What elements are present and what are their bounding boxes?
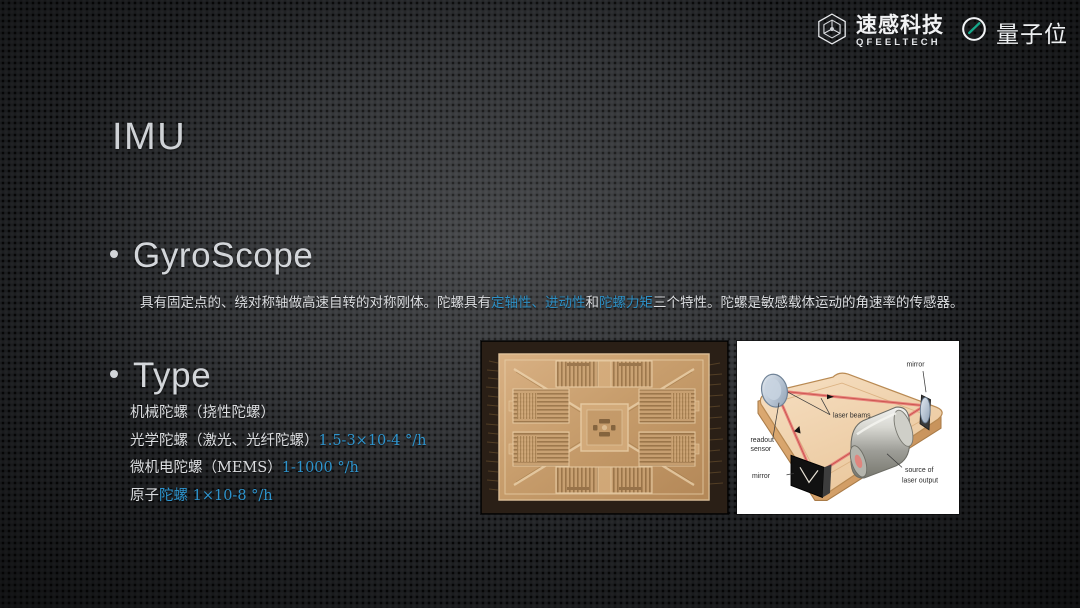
heading-type-label: Type (133, 356, 211, 396)
label-mirror-bottom: mirror (752, 473, 771, 480)
logo-qbitai: 量子位 (958, 13, 1068, 50)
type-label: 光学陀螺（激光、光纤陀螺） (130, 433, 319, 449)
label-source-line2: laser output (902, 477, 938, 484)
type-label: 微机电陀螺（MEMS） (130, 460, 282, 476)
type-value: 陀螺 1×10-8 °/h (159, 488, 273, 504)
label-laser-beams: laser beams (833, 413, 871, 420)
label-source-line1: source of (905, 467, 933, 474)
logo-qfeeltech: 速感科技 QFEELTECH (815, 12, 944, 51)
paragraph-segment-2: 和 (586, 295, 600, 311)
type-label: 原子 (130, 488, 159, 504)
logo-qfeeltech-cn: 速感科技 (856, 15, 944, 36)
heading-gyroscope: GyroScope (110, 236, 314, 276)
type-label: 机械陀螺（挠性陀螺） (130, 405, 275, 421)
heading-type: Type (110, 356, 211, 396)
page-title: IMU (112, 116, 186, 159)
figure-ring-laser-gyroscope-diagram: mirror laser beams readout sensor mirror… (737, 341, 959, 514)
figure-mems-gyroscope-die-photo (481, 341, 728, 514)
heading-gyroscope-label: GyroScope (133, 236, 314, 276)
paragraph-highlight-2: 陀螺力矩 (599, 295, 653, 311)
list-item: 原子陀螺 1×10-8 °/h (130, 483, 427, 511)
bullet-dot-icon (110, 250, 118, 258)
list-item: 机械陀螺（挠性陀螺） (130, 400, 427, 428)
list-item: 微机电陀螺（MEMS）1-1000 °/h (130, 455, 427, 483)
list-item: 光学陀螺（激光、光纤陀螺）1.5-3×10-4 °/h (130, 428, 427, 456)
q-circle-icon (958, 13, 990, 50)
paragraph-segment-1: 具有固定点的、绕对称轴做高速自转的对称刚体。陀螺具有 (140, 295, 491, 311)
type-value: 1-1000 °/h (282, 460, 359, 476)
hex-cube-icon (815, 12, 849, 51)
label-readout-sensor-line2: sensor (751, 446, 772, 453)
logo-qfeeltech-en: QFEELTECH (856, 38, 941, 48)
gyroscope-type-list: 机械陀螺（挠性陀螺） 光学陀螺（激光、光纤陀螺）1.5-3×10-4 °/h 微… (130, 400, 427, 510)
logo-qbitai-cn: 量子位 (996, 15, 1068, 49)
label-readout-sensor-line1: readout (751, 437, 774, 444)
paragraph-segment-3: 三个特性。陀螺是敏感载体运动的角速率的传感器。 (653, 295, 964, 311)
logo-bar: 速感科技 QFEELTECH 量子位 (815, 12, 1068, 51)
paragraph-highlight-1: 定轴性、进动性 (491, 295, 586, 311)
label-mirror-top: mirror (907, 362, 926, 369)
type-value: 1.5-3×10-4 °/h (319, 433, 427, 449)
bullet-dot-icon (110, 370, 118, 378)
slide-canvas: 速感科技 QFEELTECH 量子位 IMU GyroScope 具有固定点的、… (0, 0, 1080, 608)
gyroscope-description: 具有固定点的、绕对称轴做高速自转的对称刚体。陀螺具有定轴性、进动性和陀螺力矩三个… (112, 292, 1017, 315)
